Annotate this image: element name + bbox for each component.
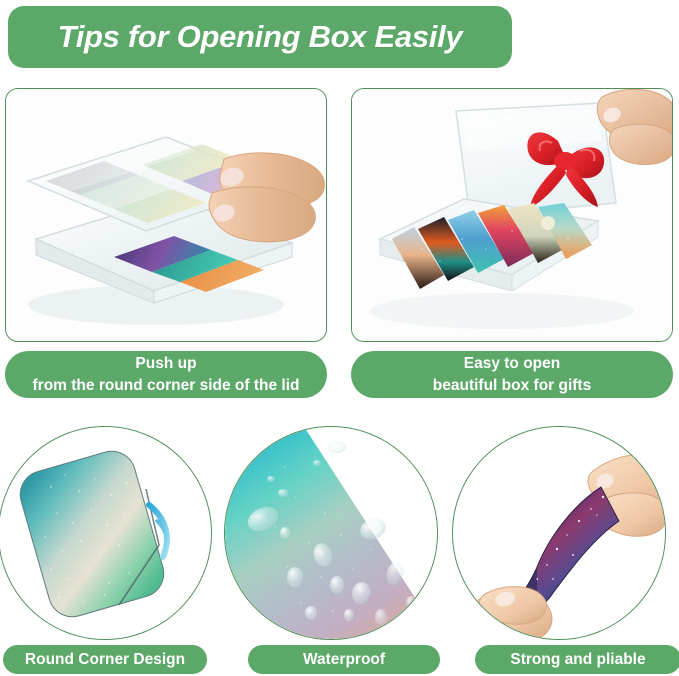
round-corner-circle-panel xyxy=(0,426,212,640)
page-title-banner: Tips for Opening Box Easily xyxy=(8,6,512,68)
waterproof-scene xyxy=(225,427,437,639)
hand-lower xyxy=(461,587,552,639)
caption-text: Strong and pliable xyxy=(510,649,645,671)
rounded-corner-sheet xyxy=(15,446,170,623)
waterproof-caption: Waterproof xyxy=(248,645,440,674)
easy-open-photo-panel xyxy=(351,88,673,342)
caption-line-1: Push up xyxy=(135,353,196,375)
strong-pliable-caption: Strong and pliable xyxy=(475,645,679,674)
push-up-photo-panel xyxy=(5,88,327,342)
strong-pliable-illustration xyxy=(453,427,665,639)
waterproof-illustration xyxy=(225,427,437,639)
caption-text: Waterproof xyxy=(303,649,385,671)
waterproof-circle-panel xyxy=(224,426,438,640)
push-up-illustration xyxy=(6,89,326,341)
caption-line-2: from the round corner side of the lid xyxy=(33,375,300,397)
hand-pushing xyxy=(209,153,324,242)
page-title: Tips for Opening Box Easily xyxy=(58,19,463,55)
easy-open-illustration xyxy=(352,89,672,341)
gift-box-scene xyxy=(352,89,673,342)
caption-line-2: beautiful box for gifts xyxy=(433,375,591,397)
push-up-scene xyxy=(6,89,327,342)
gradient-strip xyxy=(225,427,437,639)
caption-line-1: Easy to open xyxy=(464,353,560,375)
push-up-caption: Push up from the round corner side of th… xyxy=(5,351,327,398)
strong-pliable-scene xyxy=(453,427,665,639)
caption-text: Round Corner Design xyxy=(25,649,185,671)
infographic-page: Tips for Opening Box Easily xyxy=(0,0,679,676)
round-corner-caption: Round Corner Design xyxy=(3,645,207,674)
round-corner-scene xyxy=(0,427,211,639)
round-corner-illustration xyxy=(0,427,211,639)
easy-open-caption: Easy to open beautiful box for gifts xyxy=(351,351,673,398)
strong-pliable-circle-panel xyxy=(452,426,666,640)
